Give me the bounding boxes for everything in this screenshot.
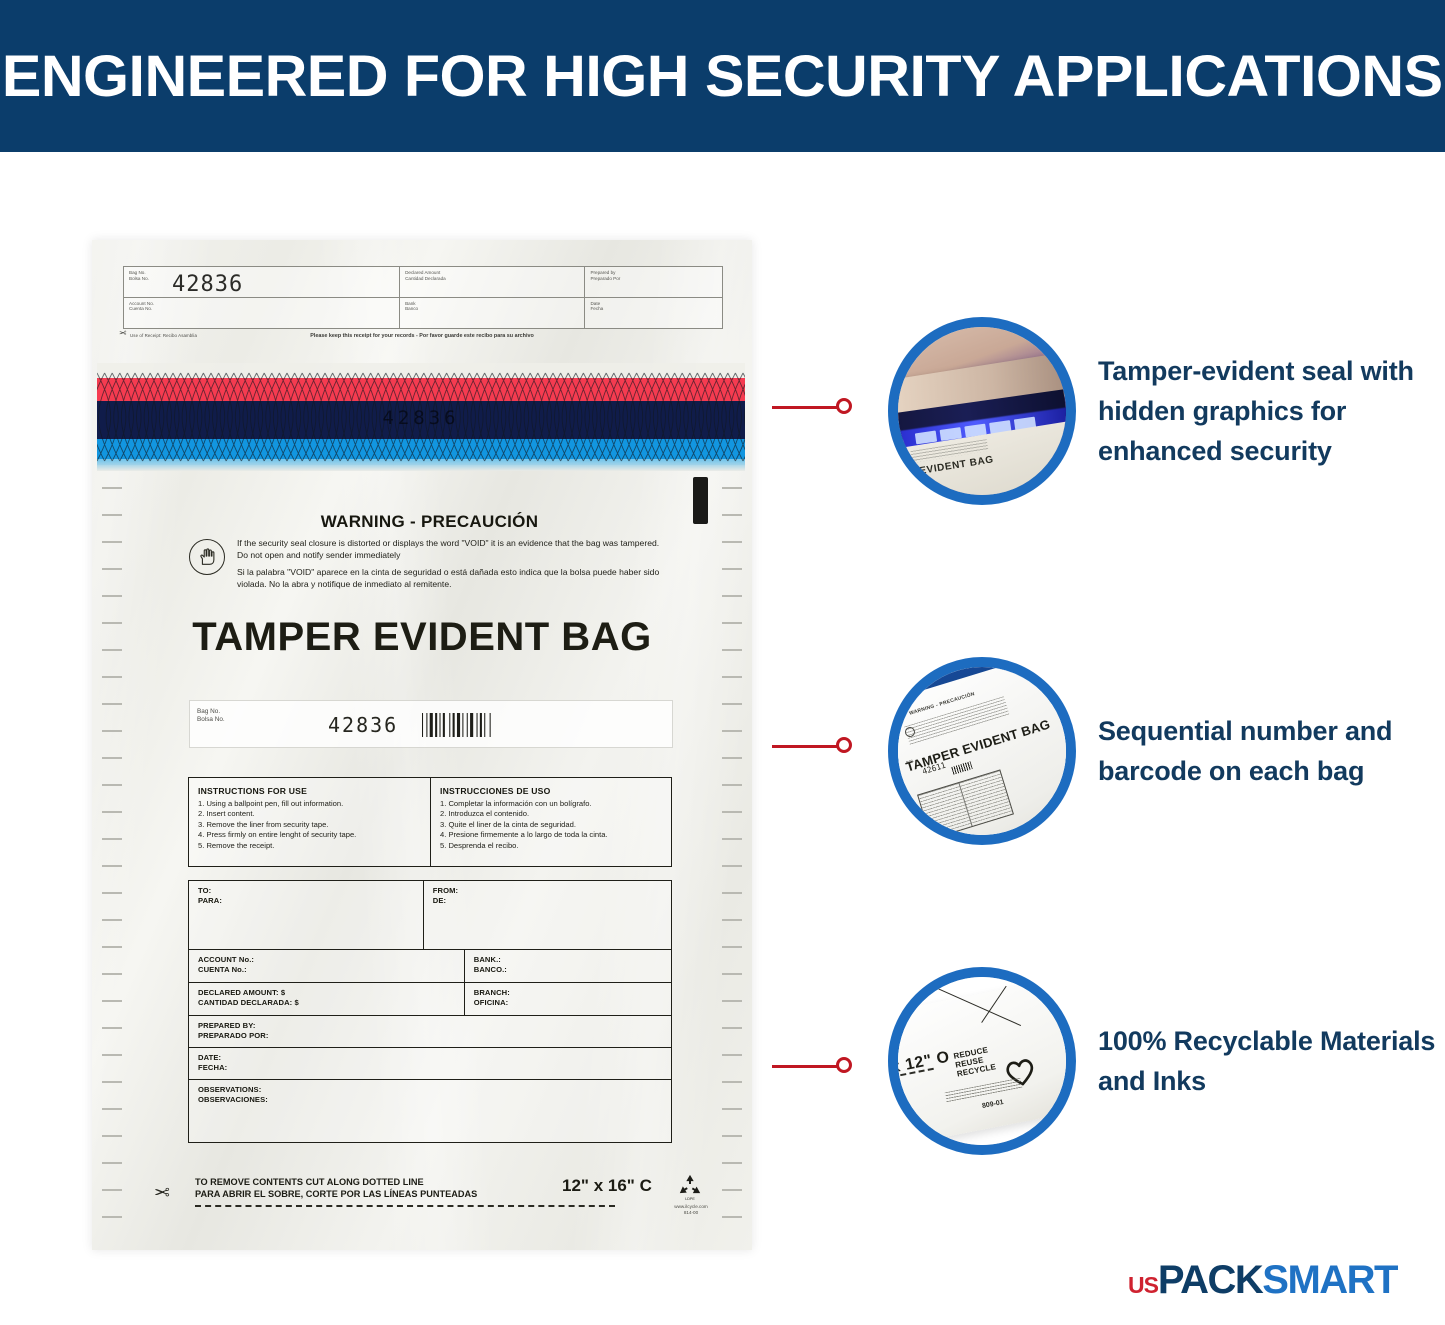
perforation-tick [722, 892, 742, 894]
callout-text-1: Tamper-evident seal with hidden graphics… [1098, 351, 1445, 471]
perforation-tick [102, 676, 122, 678]
perforation-tick [102, 1162, 122, 1164]
perforation-tick [102, 514, 122, 516]
bag-heading: TAMPER EVIDENT BAG [92, 615, 752, 660]
recycle-url-code: www.ilcycle.com 814-00 [664, 1204, 718, 1216]
callout-sequential-number: WARNING - PRECAUCIÓN TAMPER EVIDENT BAG … [888, 657, 1445, 845]
form-row-account-bank: ACCOUNT No.: CUENTA No.: BANK.: BANCO.: [189, 950, 671, 983]
receipt-cell-bag-no: Bag No. Bolsa No. 42836 [124, 267, 399, 297]
perforation-tick [722, 730, 742, 732]
connector-endpoint-dot [836, 737, 852, 753]
perforation-tick [102, 1081, 122, 1083]
barcode-number: 42836 [328, 713, 398, 737]
receipt-row-bottom: Account No. Cuenta No. Bank Banco Date F… [124, 298, 722, 329]
receipt-bank-label: Bank Banco [405, 301, 579, 312]
logo-smart-text: SMART [1262, 1258, 1397, 1303]
form-field-to: TO: PARA: [189, 881, 423, 949]
receipt-cell-bank: Bank Banco [399, 298, 584, 329]
receipt-declared-amount-label: Declared Amount Cantidad Declarada [405, 270, 579, 281]
form-label-from: FROM: DE: [433, 886, 671, 906]
perforation-tick [722, 541, 742, 543]
uv-light-money-photo: R EVIDENT BAG [888, 317, 1076, 505]
form-row-observations: OBSERVATIONS: OBSERVACIONES: [189, 1080, 671, 1140]
instructions-english: INSTRUCTIONS FOR USE 1. Using a ballpoin… [189, 778, 430, 866]
perforation-tick [102, 784, 122, 786]
brand-logo: US PACK SMART [1128, 1258, 1397, 1303]
seal-printed-number: 42836 [97, 407, 745, 429]
perforation-tick [722, 1000, 742, 1002]
perforation-tick [722, 1054, 742, 1056]
connector-line-segment [772, 406, 842, 409]
receipt-cell-prepared-by: Prepared by Preparado Por [584, 267, 722, 297]
receipt-account-no-label: Account No. Cuenta No. [129, 301, 394, 312]
callout-text-3: 100% Recyclable Materials and Inks [1098, 1021, 1445, 1101]
perforation-tick [102, 973, 122, 975]
perforation-tick [722, 487, 742, 489]
perforation-tick [102, 892, 122, 894]
form-label-account-no: ACCOUNT No.: CUENTA No.: [198, 955, 464, 975]
form-row-date: DATE: FECHA: [189, 1048, 671, 1080]
callout-text-2: Sequential number and barcode on each ba… [1098, 711, 1445, 791]
perforation-tick [722, 811, 742, 813]
perforation-tick [102, 757, 122, 759]
connector-line-segment [772, 745, 842, 748]
receipt-date-label: Date Fecha [590, 301, 717, 312]
perforation-tick [722, 784, 742, 786]
instructions-en-item: 5. Remove the receipt. [198, 841, 424, 851]
scissors-icon: ✂ [154, 1182, 170, 1205]
instructions-es-title: INSTRUCCIONES DE USO [440, 786, 665, 796]
warning-title: WARNING - PRECAUCIÓN [187, 512, 672, 532]
recycle-icon: LDPE [677, 1172, 703, 1202]
connector-line-segment [772, 1065, 842, 1068]
perforation-tick [722, 1108, 742, 1110]
warning-block: WARNING - PRECAUCIÓN If the security sea… [187, 512, 672, 590]
perforation-tick [102, 487, 122, 489]
form-row-prepared-by: PREPARED BY: PREPARADO POR: [189, 1016, 671, 1048]
perforation-tick [102, 1054, 122, 1056]
instructions-en-item: 2. Insert content. [198, 809, 424, 819]
receipt-prepared-by-label: Prepared by Preparado Por [590, 270, 717, 281]
perforation-tick [722, 1081, 742, 1083]
form-label-observations: OBSERVATIONS: OBSERVACIONES: [198, 1085, 671, 1105]
perforation-tick [102, 703, 122, 705]
receipt-bag-no-value: 42836 [172, 272, 243, 297]
form-field-account-no: ACCOUNT No.: CUENTA No.: [189, 950, 464, 982]
perforation-tick [102, 1108, 122, 1110]
perforation-tick [102, 1027, 122, 1029]
connector-line-3 [772, 1056, 856, 1076]
instructions-es-item: 3. Quite el liner de la cinta de segurid… [440, 820, 665, 830]
form-field-date: DATE: FECHA: [189, 1048, 671, 1079]
perforation-tick [102, 1000, 122, 1002]
form-fields-box: TO: PARA: FROM: DE: ACCOUNT No.: CUENTA … [188, 880, 672, 1143]
perforation-tick [722, 595, 742, 597]
form-field-declared-amount: DECLARED AMOUNT: $ CANTIDAD DECLARADA: $ [189, 983, 464, 1015]
perforation-tick [102, 730, 122, 732]
security-seal-band: 42836 [97, 363, 745, 471]
tamper-evident-bag-photo: Bag No. Bolsa No. 42836 Declared Amount … [92, 240, 752, 1250]
perforation-tick [722, 757, 742, 759]
angled-bag-closeup-photo: WARNING - PRECAUCIÓN TAMPER EVIDENT BAG … [888, 657, 1076, 845]
receipt-cell-declared-amount: Declared Amount Cantidad Declarada [399, 267, 584, 297]
form-field-from: FROM: DE: [423, 881, 671, 949]
logo-us-text: US [1128, 1272, 1158, 1299]
hand-icon [189, 539, 225, 575]
instructions-box: INSTRUCTIONS FOR USE 1. Using a ballpoin… [188, 777, 672, 867]
form-field-prepared-by: PREPARED BY: PREPARADO POR: [189, 1016, 671, 1047]
warning-text-spanish: Si la palabra "VOID" aparece en la cinta… [237, 567, 672, 590]
form-label-date: DATE: FECHA: [198, 1053, 671, 1073]
perforation-tick [102, 1135, 122, 1137]
receipt-cell-date: Date Fecha [584, 298, 722, 329]
warning-text-english: If the security seal closure is distorte… [237, 538, 672, 561]
barcode-label: Bag No. Bolsa No. [197, 708, 225, 724]
perforation-tick [722, 1027, 742, 1029]
form-label-branch: BRANCH: OFICINA: [474, 988, 671, 1008]
bag-size-label: 12" x 16" C [562, 1176, 652, 1196]
instructions-en-title: INSTRUCTIONS FOR USE [198, 786, 424, 796]
form-label-prepared-by: PREPARED BY: PREPARADO POR: [198, 1021, 671, 1041]
form-field-branch: BRANCH: OFICINA: [464, 983, 671, 1015]
instructions-en-item: 4. Press firmly on entire lenght of secu… [198, 830, 424, 840]
receipt-bag-no-label: Bag No. Bolsa No. [129, 270, 394, 281]
svg-text:LDPE: LDPE [685, 1197, 695, 1201]
perforation-tick [102, 595, 122, 597]
form-row-to-from: TO: PARA: FROM: DE: [189, 881, 671, 950]
dotted-cut-line [195, 1205, 615, 1207]
cut-strip: ✂ TO REMOVE CONTENTS CUT ALONG DOTTED LI… [92, 1170, 752, 1230]
receipt-row-top: Bag No. Bolsa No. 42836 Declared Amount … [124, 267, 722, 298]
instructions-es-item: 4. Presione firmemente a lo largo de tod… [440, 830, 665, 840]
perforation-tick [722, 1162, 742, 1164]
connector-line-2 [772, 736, 856, 756]
perforation-tick [722, 568, 742, 570]
form-label-bank: BANK.: BANCO.: [474, 955, 671, 975]
barcode-icon [422, 713, 494, 737]
perforation-tick [722, 946, 742, 948]
instructions-spanish: INSTRUCCIONES DE USO 1. Completar la inf… [430, 778, 671, 866]
recycle-mark-closeup-photo: x 12" O REDUCE REUSE RECYCLE 809-01 [888, 967, 1076, 1155]
receipt-footnote-center: Please keep this receipt for your record… [92, 333, 752, 339]
connector-endpoint-dot [836, 1057, 852, 1073]
perforation-tick [722, 919, 742, 921]
perforation-tick [722, 973, 742, 975]
perforation-tick [722, 514, 742, 516]
receipt-cell-account-no: Account No. Cuenta No. [124, 298, 399, 329]
perforation-tick [102, 568, 122, 570]
perforation-tick [102, 919, 122, 921]
perforation-tick [722, 865, 742, 867]
warning-body: If the security seal closure is distorte… [187, 538, 672, 590]
form-label-declared-amount: DECLARED AMOUNT: $ CANTIDAD DECLARADA: $ [198, 988, 464, 1008]
instructions-es-item: 5. Desprenda el recibo. [440, 841, 665, 851]
receipt-grid: Bag No. Bolsa No. 42836 Declared Amount … [123, 266, 723, 329]
cut-instructions-text: TO REMOVE CONTENTS CUT ALONG DOTTED LINE… [195, 1176, 477, 1201]
callout-tamper-seal: R EVIDENT BAG Tamper-evident seal with h… [888, 317, 1445, 505]
connector-line-1 [772, 397, 856, 417]
perforation-tick [102, 811, 122, 813]
perforation-tick [102, 946, 122, 948]
perforation-tick [722, 703, 742, 705]
barcode-strip: Bag No. Bolsa No. 42836 [189, 700, 673, 748]
perforation-tick [722, 838, 742, 840]
perforation-tick [102, 865, 122, 867]
connector-endpoint-dot [836, 398, 852, 414]
perforation-tick [722, 1135, 742, 1137]
instructions-en-item: 3. Remove the liner from security tape. [198, 820, 424, 830]
callout-recyclable: x 12" O REDUCE REUSE RECYCLE 809-01 100%… [888, 967, 1445, 1155]
instructions-en-item: 1. Using a ballpoint pen, fill out infor… [198, 799, 424, 809]
perforation-tick [722, 676, 742, 678]
instructions-es-item: 2. Introduzca el contenido. [440, 809, 665, 819]
page-title: ENGINEERED FOR HIGH SECURITY APPLICATION… [2, 43, 1443, 110]
perforation-tick [102, 541, 122, 543]
form-label-to: TO: PARA: [198, 886, 423, 906]
logo-pack-text: PACK [1158, 1258, 1262, 1303]
perforation-tick [102, 838, 122, 840]
form-row-declared-branch: DECLARED AMOUNT: $ CANTIDAD DECLARADA: $… [189, 983, 671, 1016]
form-field-observations: OBSERVATIONS: OBSERVACIONES: [189, 1080, 671, 1140]
form-field-bank: BANK.: BANCO.: [464, 950, 671, 982]
header-banner: ENGINEERED FOR HIGH SECURITY APPLICATION… [0, 0, 1445, 152]
tear-notch [693, 477, 708, 524]
instructions-es-item: 1. Completar la información con un bolíg… [440, 799, 665, 809]
